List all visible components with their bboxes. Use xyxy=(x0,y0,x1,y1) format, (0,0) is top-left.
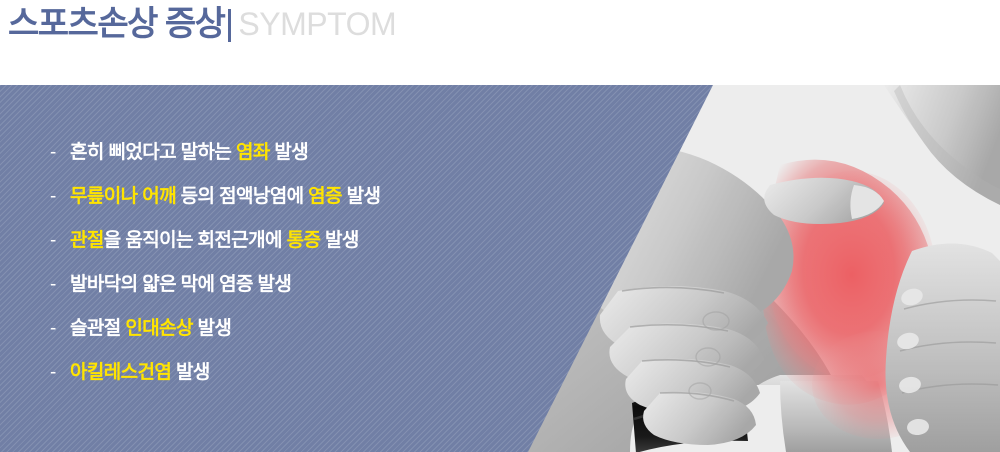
list-item: - 아킬레스건염 발생 xyxy=(50,361,520,405)
text-segment-highlight: 염증 xyxy=(308,186,342,207)
page-header: 스포츠손상 증상 SYMPTOM xyxy=(0,0,1000,85)
text-segment: 발바닥의 얇은 막에 염증 발생 xyxy=(70,274,291,295)
text-segment: 발생 xyxy=(270,142,308,163)
text-segment-highlight: 아킬레스건염 xyxy=(70,362,171,383)
text-segment: 발생 xyxy=(320,230,358,251)
list-item-text: 무릎이나 어깨 등의 점액낭염에 염증 발생 xyxy=(70,185,380,209)
text-segment-highlight: 인대손상 xyxy=(125,318,193,339)
symptom-banner-page: 스포츠손상 증상 SYMPTOM xyxy=(0,0,1000,452)
bullet-dash-icon: - xyxy=(50,142,70,164)
text-segment-highlight: 무릎이나 어깨 xyxy=(70,186,176,207)
text-segment: 을 움직이는 회전근개에 xyxy=(104,230,287,251)
text-segment: 슬관절 xyxy=(70,318,125,339)
bullet-dash-icon: - xyxy=(50,186,70,208)
page-title-english: SYMPTOM xyxy=(238,4,396,44)
text-segment: 등의 점액낭염에 xyxy=(176,186,308,207)
title-divider xyxy=(228,9,231,42)
bullet-dash-icon: - xyxy=(50,362,70,384)
list-item: - 발바닥의 얇은 막에 염증 발생 xyxy=(50,273,520,317)
text-segment-highlight: 염좌 xyxy=(236,142,270,163)
bullet-dash-icon: - xyxy=(50,274,70,296)
list-item: - 흔히 삐었다고 말하는 염좌 발생 xyxy=(50,141,520,185)
list-item: - 무릎이나 어깨 등의 점액낭염에 염증 발생 xyxy=(50,185,520,229)
list-item-text: 슬관절 인대손상 발생 xyxy=(70,317,231,341)
symptom-list: - 흔히 삐었다고 말하는 염좌 발생 - 무릎이나 어깨 등의 점액낭염에 염… xyxy=(50,141,520,405)
text-segment: 발생 xyxy=(171,362,209,383)
symptom-banner: - 흔히 삐었다고 말하는 염좌 발생 - 무릎이나 어깨 등의 점액낭염에 염… xyxy=(0,85,1000,452)
page-title-korean: 스포츠손상 증상 xyxy=(8,4,224,44)
list-item-text: 발바닥의 얇은 막에 염증 발생 xyxy=(70,273,291,297)
text-segment: 발생 xyxy=(193,318,231,339)
list-item: - 슬관절 인대손상 발생 xyxy=(50,317,520,361)
text-segment: 흔히 삐었다고 말하는 xyxy=(70,142,236,163)
bullet-dash-icon: - xyxy=(50,318,70,340)
text-segment-highlight: 통증 xyxy=(287,230,321,251)
list-item-text: 아킬레스건염 발생 xyxy=(70,361,210,385)
list-item: - 관절을 움직이는 회전근개에 통증 발생 xyxy=(50,229,520,273)
title-group: 스포츠손상 증상 SYMPTOM xyxy=(0,0,396,44)
text-segment: 발생 xyxy=(342,186,380,207)
list-item-text: 흔히 삐었다고 말하는 염좌 발생 xyxy=(70,141,308,165)
text-segment-highlight: 관절 xyxy=(70,230,104,251)
list-item-text: 관절을 움직이는 회전근개에 통증 발생 xyxy=(70,229,359,253)
bullet-dash-icon: - xyxy=(50,230,70,252)
